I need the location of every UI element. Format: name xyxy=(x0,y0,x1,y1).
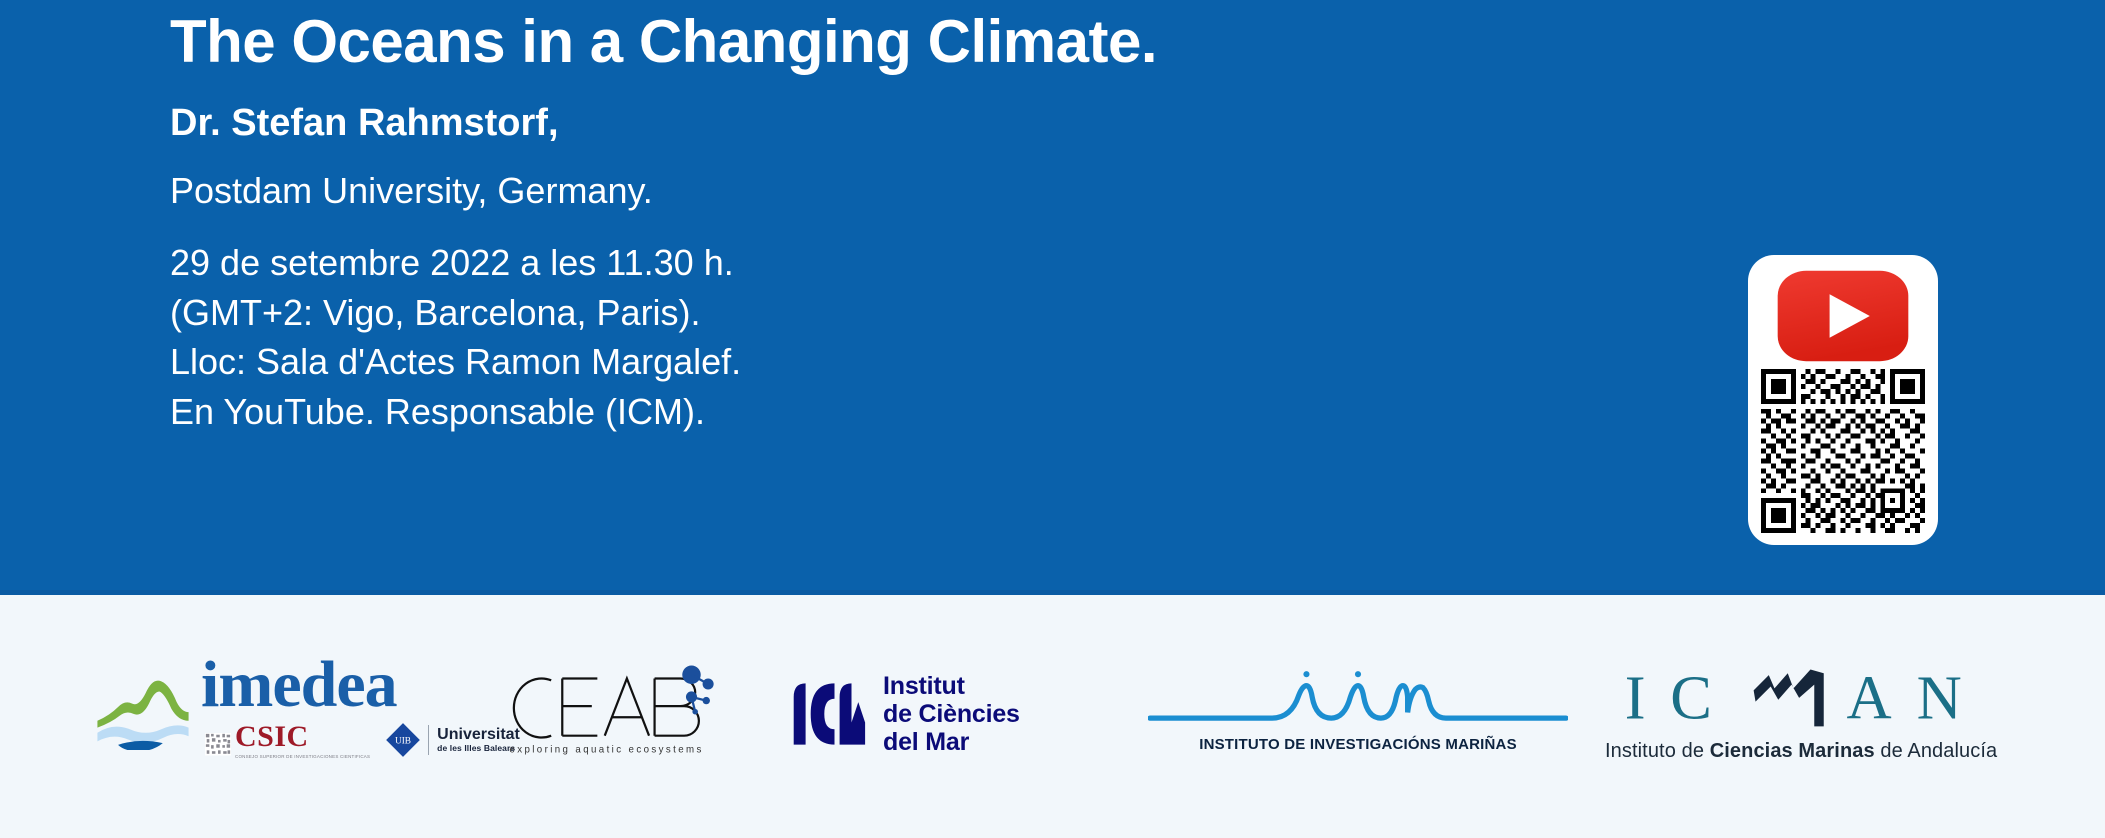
event-detail-timezone: (GMT+2: Vigo, Barcelona, Paris). xyxy=(170,288,1690,338)
ceab-wordmark-icon: exploring aquatic ecosystems xyxy=(500,660,715,756)
icman-caption-pre: Instituto de xyxy=(1605,740,1710,762)
icman-caption-post: de Andalucía xyxy=(1875,740,1998,762)
event-detail-datetime: 29 de setembre 2022 a les 11.30 h. xyxy=(170,238,1690,288)
poster-root: The Oceans in a Changing Climate. Dr. St… xyxy=(0,0,2105,838)
ceab-tagline: exploring aquatic ecosystems xyxy=(509,744,703,755)
icm-text-group: Institut de Ciències del Mar xyxy=(883,672,1020,756)
icm-line-1: Institut xyxy=(883,672,1020,700)
svg-text:UIB: UIB xyxy=(395,737,411,747)
imedea-text-group: imedea xyxy=(201,655,520,759)
csic-wordmark: CSIC xyxy=(235,722,370,752)
uib-divider xyxy=(428,725,429,755)
imedea-wordmark: imedea xyxy=(201,655,520,716)
qr-code-matrix xyxy=(1761,369,1925,533)
icman-letter-c: C xyxy=(1670,663,1712,732)
logo-imedea[interactable]: imedea xyxy=(95,655,520,759)
event-details: 29 de setembre 2022 a les 11.30 h. (GMT+… xyxy=(170,238,1690,437)
csic-seal-icon xyxy=(205,733,231,759)
icman-caption: Instituto de Ciencias Marinas de Andaluc… xyxy=(1605,740,1997,763)
iim-caption: INSTITUTO DE INVESTIGACIÓNS MARIÑAS xyxy=(1199,736,1517,753)
page-title: The Oceans in a Changing Climate. xyxy=(170,8,1690,75)
icman-letter-i: I xyxy=(1625,663,1646,732)
banner-text-block: The Oceans in a Changing Climate. Dr. St… xyxy=(170,8,1690,437)
event-detail-stream: En YouTube. Responsable (ICM). xyxy=(170,387,1690,437)
qr-code[interactable] xyxy=(1761,369,1925,533)
icm-line-3: del Mar xyxy=(883,728,1020,756)
speaker-name: Dr. Stefan Rahmstorf, xyxy=(170,101,1690,147)
icm-blocks-icon xyxy=(785,680,867,748)
imedea-partner-row: CSIC CONSEJO SUPERIOR DE INVESTIGACIONES… xyxy=(201,722,520,759)
logo-icman[interactable]: I C A N Instituto de Ciencias Marinas de… xyxy=(1605,660,1997,763)
logo-ceab[interactable]: exploring aquatic ecosystems xyxy=(500,660,715,756)
uib-diamond-icon: UIB xyxy=(386,723,420,757)
csic-subtitle: CONSEJO SUPERIOR DE INVESTIGACIONES CIEN… xyxy=(235,754,370,759)
event-detail-venue: Lloc: Sala d'Actes Ramon Margalef. xyxy=(170,337,1690,387)
icman-letters-icon: I C A N xyxy=(1606,660,1996,732)
youtube-play-icon[interactable] xyxy=(1776,269,1910,363)
icman-zigzag-m-icon xyxy=(1754,669,1824,726)
icman-caption-bold: Ciencias Marinas xyxy=(1710,740,1875,762)
iim-wave-icon xyxy=(1148,668,1568,730)
mountain-wave-fish-icon xyxy=(95,664,191,750)
icm-line-2: de Ciències xyxy=(883,700,1020,728)
icman-letter-n: N xyxy=(1917,663,1962,732)
csic-text-group: CSIC CONSEJO SUPERIOR DE INVESTIGACIONES… xyxy=(235,722,370,759)
youtube-qr-card[interactable] xyxy=(1748,255,1938,545)
logo-csic[interactable]: CSIC CONSEJO SUPERIOR DE INVESTIGACIONES… xyxy=(205,722,370,759)
speaker-affiliation: Postdam University, Germany. xyxy=(170,169,1690,212)
icman-letter-a: A xyxy=(1847,663,1892,732)
logo-iim[interactable]: INSTITUTO DE INVESTIGACIÓNS MARIÑAS xyxy=(1148,668,1568,753)
logo-icm[interactable]: Institut de Ciències del Mar xyxy=(785,672,1020,756)
